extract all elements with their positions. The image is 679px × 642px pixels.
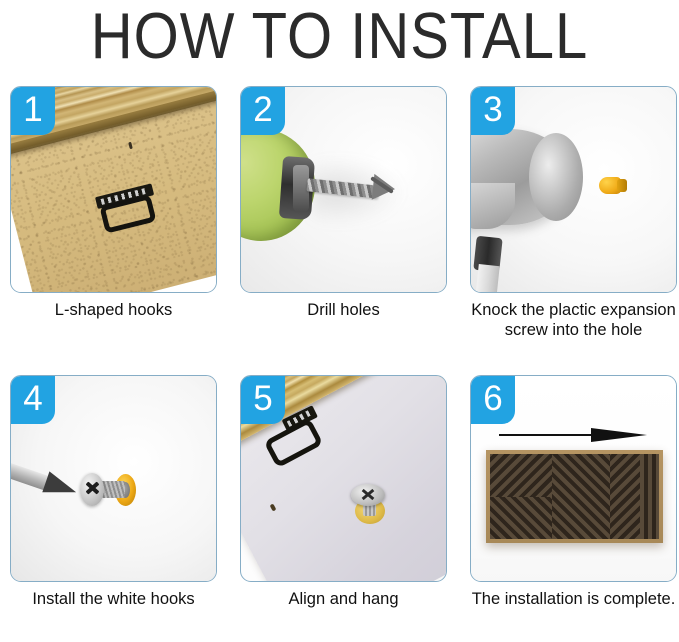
hammer-handle	[475, 264, 499, 293]
step-card-5: 5 Align and hang	[240, 375, 447, 609]
step-number-badge-1: 1	[11, 87, 55, 135]
steps-grid: 1 L-shaped hooks 2 Drill holes	[0, 86, 679, 642]
step-number-badge-4: 4	[11, 376, 55, 424]
step-number-badge-3: 3	[471, 87, 515, 135]
step-number-badge-6: 6	[471, 376, 515, 424]
step-card-2: 2 Drill holes	[240, 86, 447, 320]
arrow-shaft	[499, 434, 603, 436]
arrow-icon	[499, 428, 647, 442]
panel-stripe-block-1	[490, 454, 552, 497]
panel-stripe-block-3	[552, 454, 610, 539]
step-caption-6: The installation is complete.	[470, 589, 677, 609]
step-card-1: 1 L-shaped hooks	[10, 86, 217, 320]
mounted-screw-with-anchor	[349, 488, 391, 526]
step-1-photo: 1	[10, 86, 217, 293]
step-number-badge-5: 5	[241, 376, 285, 424]
page-title: HOW TO INSTALL	[0, 2, 679, 71]
step-caption-1: L-shaped hooks	[10, 300, 217, 320]
yellow-plastic-anchor	[599, 175, 629, 195]
step-2-photo: 2	[240, 86, 447, 293]
arrow-head	[591, 428, 647, 442]
step-number-badge-2: 2	[241, 87, 285, 135]
step-card-3: 3 Knock the plactic expansion screw into…	[470, 86, 677, 340]
panel-face	[490, 454, 659, 539]
panel-stripe-block-5	[640, 454, 659, 539]
panel-stripe-block-4	[610, 454, 640, 539]
step-6-photo: 6	[470, 375, 677, 582]
step-caption-2: Drill holes	[240, 300, 447, 320]
step-card-6: 6 The installation is complete.	[470, 375, 677, 609]
how-to-install-infographic: HOW TO INSTALL 1 L-shap	[0, 0, 679, 642]
step-caption-3: Knock the plactic expansion screw into t…	[470, 300, 677, 340]
hammer-striking-face	[529, 133, 583, 221]
step-caption-5: Align and hang	[240, 589, 447, 609]
anchor-collar	[617, 179, 627, 192]
step-5-photo: 5	[240, 375, 447, 582]
step-3-photo: 3	[470, 86, 677, 293]
step-4-photo: 4	[10, 375, 217, 582]
wood-slat-wall-panel	[486, 450, 663, 543]
panel-stripe-block-2	[490, 497, 552, 539]
step-caption-4: Install the white hooks	[10, 589, 217, 609]
step-card-4: 4 Install the white hooks	[10, 375, 217, 609]
screw-thread	[101, 481, 125, 498]
